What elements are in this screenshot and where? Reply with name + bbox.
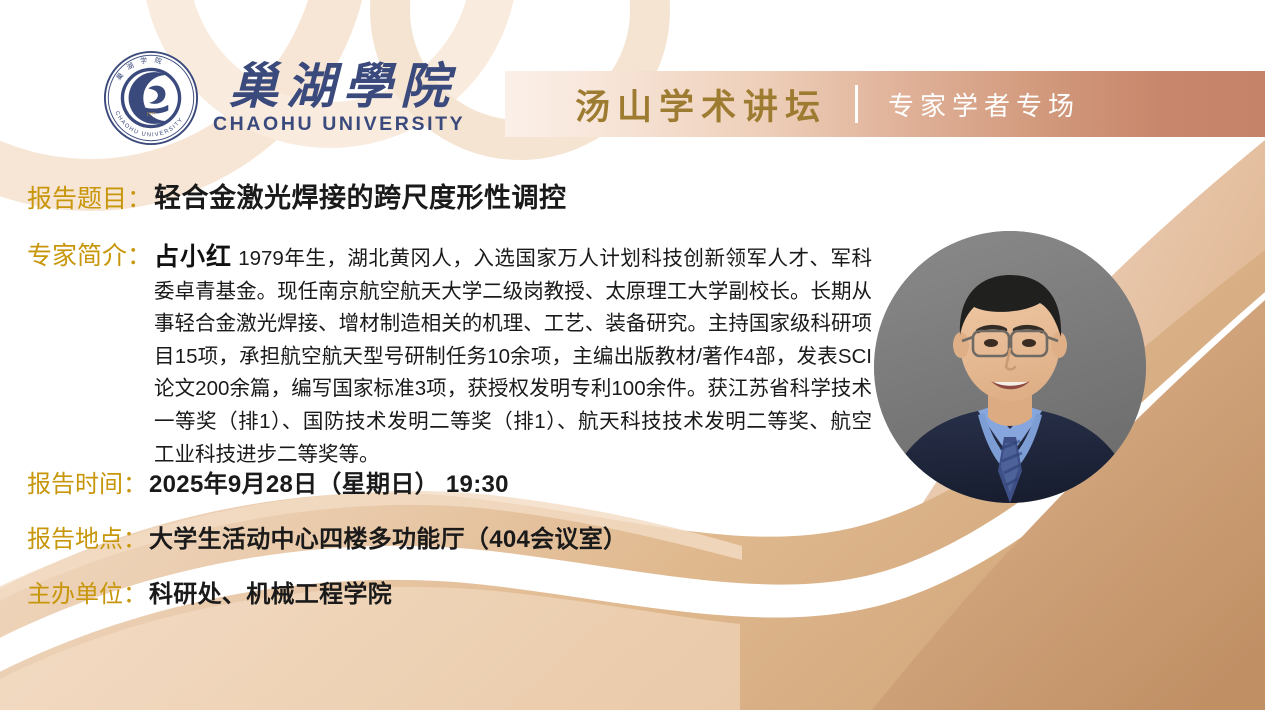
organizer-value: 科研处、机械工程学院 (149, 574, 392, 609)
lecture-location-row: 报告地点： 大学生活动中心四楼多功能厅（404会议室） (27, 519, 627, 554)
organizer-label: 主办单位： (27, 574, 147, 609)
speaker-bio-body: 1979年生，湖北黄冈人，入选国家万人计划科技创新领军人才、军科委卓青基金。现任… (154, 247, 872, 466)
lecture-title-label: 报告题目： (27, 179, 152, 215)
forum-banner-subtitle: 专家学者专场 (888, 86, 1080, 123)
university-logo: 1977 巢湖学院 CHAOHU UNIVERSITY 巢湖學院 CHAOHU … (103, 50, 465, 146)
university-name-en: CHAOHU UNIVERSITY (213, 113, 465, 136)
lecture-poster: 1977 巢湖学院 CHAOHU UNIVERSITY 巢湖學院 CHAOHU … (0, 0, 1265, 710)
banner-divider (855, 85, 858, 123)
university-name-cn: 巢湖學院 (221, 62, 457, 112)
organizer-row: 主办单位： 科研处、机械工程学院 (27, 574, 392, 609)
speaker-bio-label: 专家简介： (27, 241, 152, 272)
forum-banner-title: 汤山学术讲坛 (575, 79, 827, 130)
speaker-bio-row: 专家简介： 占小红 1979年生，湖北黄冈人，入选国家万人计划科技创新领军人才、… (27, 241, 872, 471)
lecture-time-row: 报告时间： 2025年9月28日（星期日） 19:30 (27, 464, 509, 499)
lecture-time-value: 2025年9月28日（星期日） 19:30 (149, 464, 509, 499)
lecture-location-value: 大学生活动中心四楼多功能厅（404会议室） (149, 519, 627, 554)
lecture-location-label: 报告地点： (27, 519, 147, 554)
university-name-block: 巢湖學院 CHAOHU UNIVERSITY (213, 62, 465, 136)
speaker-bio-text: 占小红 1979年生，湖北黄冈人，入选国家万人计划科技创新领军人才、军科委卓青基… (154, 241, 872, 471)
forum-banner: 汤山学术讲坛 专家学者专场 (505, 71, 1265, 137)
lecture-time-label: 报告时间： (27, 464, 147, 499)
poster-header: 1977 巢湖学院 CHAOHU UNIVERSITY 巢湖學院 CHAOHU … (0, 0, 1265, 160)
lecture-title-value: 轻合金激光焊接的跨尺度形性调控 (154, 176, 567, 215)
svg-text:1977: 1977 (146, 112, 156, 117)
lecture-title-row: 报告题目： 轻合金激光焊接的跨尺度形性调控 (27, 176, 567, 215)
speaker-portrait (874, 231, 1146, 503)
speaker-name: 占小红 (154, 243, 232, 271)
chaohu-university-seal-icon: 1977 巢湖学院 CHAOHU UNIVERSITY (103, 50, 199, 146)
portrait-image (874, 231, 1146, 503)
